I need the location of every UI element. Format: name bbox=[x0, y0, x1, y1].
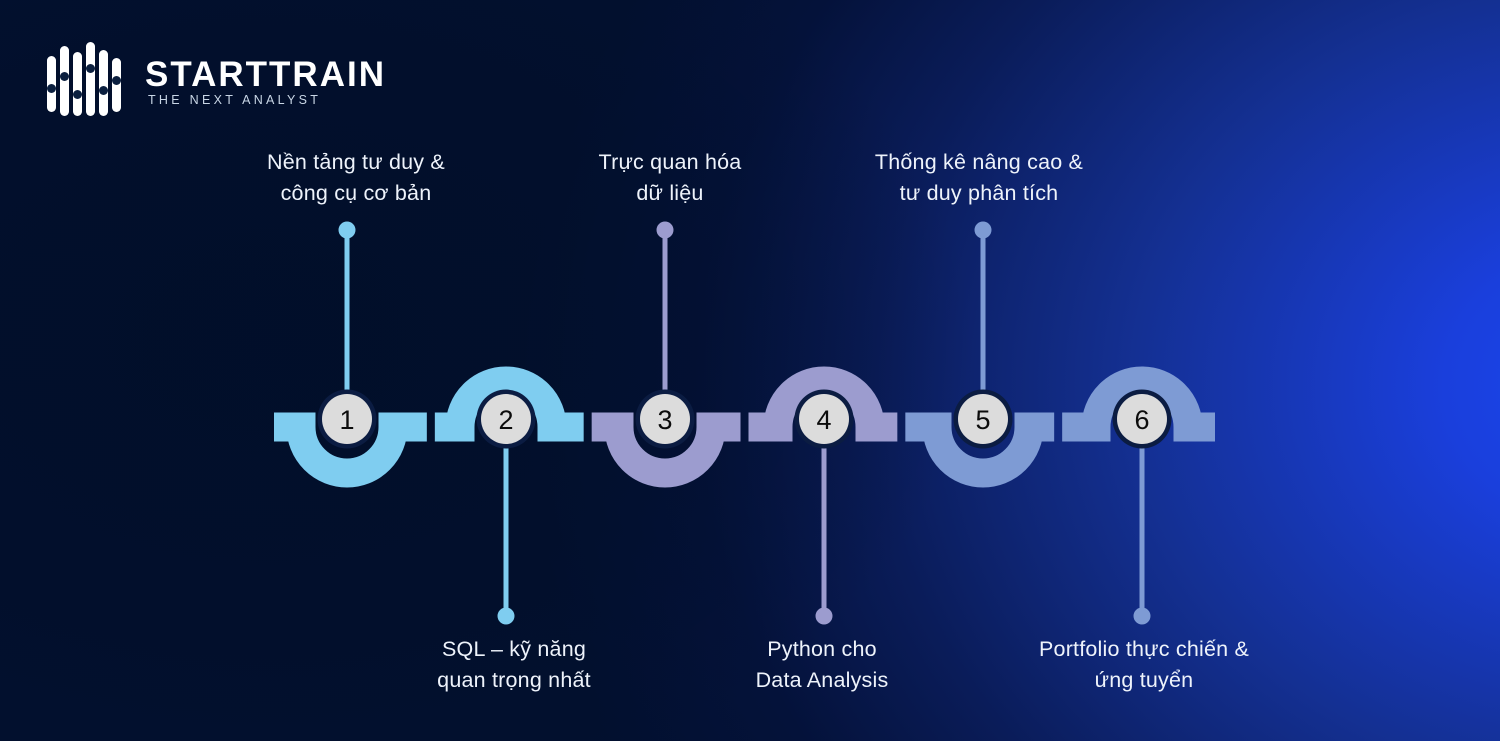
step-label-4: Python cho Data Analysis bbox=[756, 634, 889, 695]
step-number: 6 bbox=[1134, 405, 1149, 435]
connector-dot bbox=[975, 222, 992, 239]
infographic-canvas: STARTTRAIN THE NEXT ANALYST 123456 Nền t… bbox=[0, 0, 1500, 741]
step-label-3: Trực quan hóa dữ liệu bbox=[599, 147, 742, 208]
step-number: 1 bbox=[339, 405, 354, 435]
step-number: 3 bbox=[657, 405, 672, 435]
step-label-2: SQL – kỹ năng quan trọng nhất bbox=[437, 634, 591, 695]
connector-dot bbox=[1134, 608, 1151, 625]
step-number: 5 bbox=[975, 405, 990, 435]
connector-dot bbox=[339, 222, 356, 239]
timeline-ribbon bbox=[274, 381, 1215, 473]
connector-dot bbox=[816, 608, 833, 625]
connector-dot bbox=[657, 222, 674, 239]
connector-dot bbox=[498, 608, 515, 625]
step-label-1: Nền tảng tư duy & công cụ cơ bản bbox=[267, 147, 445, 208]
step-label-5: Thống kê nâng cao & tư duy phân tích bbox=[875, 147, 1083, 208]
step-number: 2 bbox=[498, 405, 513, 435]
timeline-graphic: 123456 bbox=[0, 0, 1500, 741]
step-number: 4 bbox=[816, 405, 831, 435]
step-label-6: Portfolio thực chiến & ứng tuyển bbox=[1039, 634, 1249, 695]
